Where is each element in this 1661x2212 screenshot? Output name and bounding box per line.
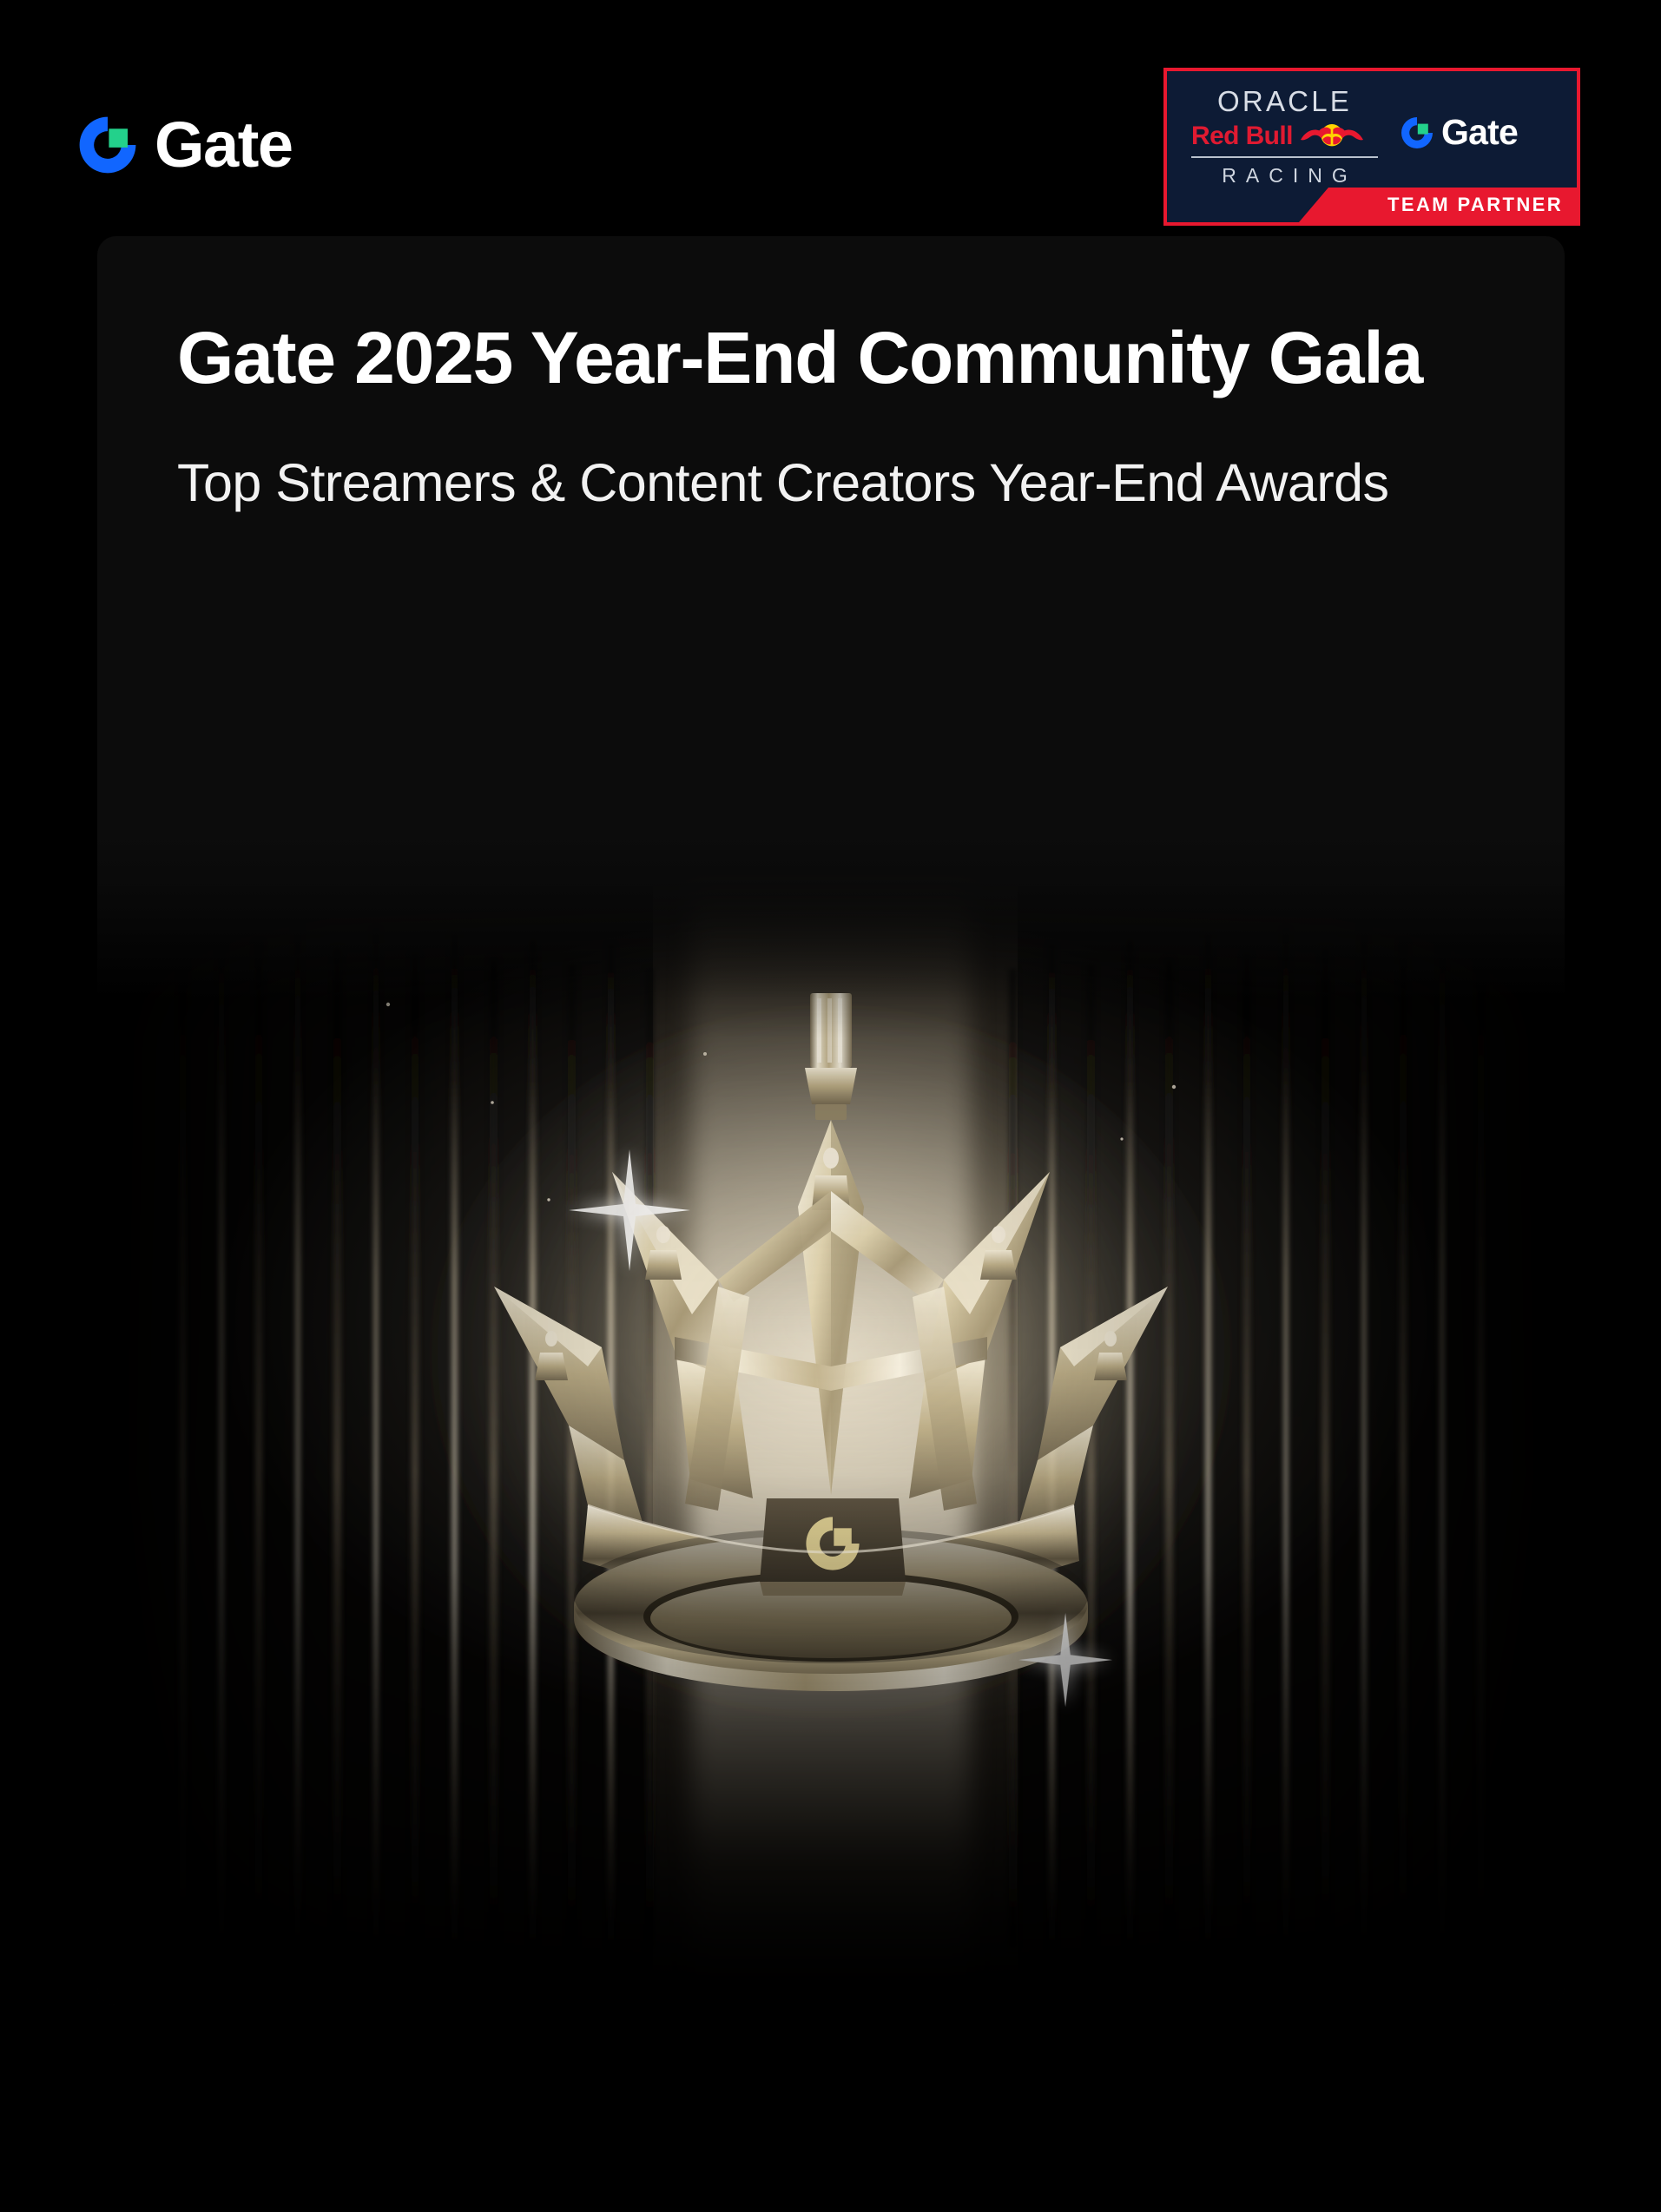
gate-brand-logo[interactable]: Gate [76, 113, 293, 177]
page-header: Gate ORACLE Red Bull RACING [0, 0, 1661, 236]
oracle-label: ORACLE [1191, 87, 1378, 115]
gate-wordmark: Gate [155, 113, 293, 177]
hero-top-fade [97, 826, 1565, 1000]
oracle-red-bull-racing-partner-badge[interactable]: ORACLE Red Bull RACING [1163, 68, 1580, 226]
team-partner-label: TEAM PARTNER [1387, 195, 1563, 214]
gate-logo-icon [1400, 115, 1434, 150]
badge-divider [1191, 156, 1378, 158]
red-bull-racing-lockup: ORACLE Red Bull RACING [1191, 87, 1378, 186]
red-bull-bulls-icon [1297, 122, 1367, 150]
page-title: Gate 2025 Year-End Community Gala [97, 314, 1556, 402]
hero-vignette [97, 826, 1565, 2005]
red-bull-row: Red Bull [1191, 122, 1378, 150]
hero-image [97, 826, 1565, 2005]
racing-label: RACING [1191, 166, 1378, 186]
card-text-block: Gate 2025 Year-End Community Gala Top St… [97, 236, 1565, 515]
event-card: Gate 2025 Year-End Community Gala Top St… [97, 236, 1565, 2005]
gate-logo-icon [76, 114, 139, 176]
page-root: Gate ORACLE Red Bull RACING [0, 0, 1661, 2212]
badge-gate-wordmark: Gate [1441, 115, 1518, 150]
red-bull-label: Red Bull [1191, 123, 1293, 149]
page-subtitle: Top Streamers & Content Creators Year-En… [97, 402, 1565, 515]
team-partner-banner: TEAM PARTNER [1299, 188, 1577, 222]
badge-gate-logo: Gate [1400, 115, 1518, 150]
